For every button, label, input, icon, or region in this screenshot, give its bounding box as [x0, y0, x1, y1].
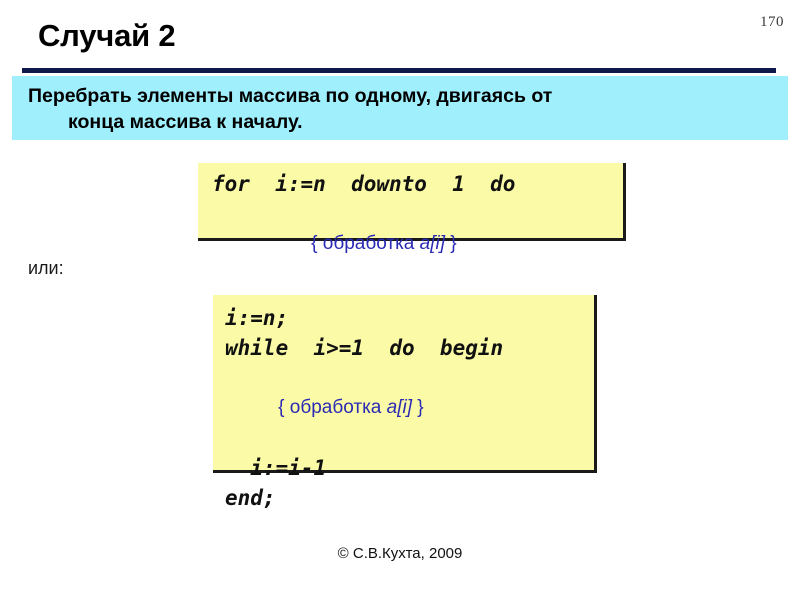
description-banner-text: Перебрать элементы массива по одному, дв… — [12, 76, 788, 135]
comment-prefix: { обработка — [278, 397, 387, 418]
description-line-1: Перебрать элементы массива по одному, дв… — [28, 85, 552, 107]
comment-variable: a[i] — [387, 397, 412, 418]
comment-suffix: } — [412, 397, 424, 418]
comment-prefix: { обработка — [311, 233, 420, 254]
title-divider — [22, 68, 776, 73]
code-line: while i>=1 do begin — [213, 333, 594, 363]
code-line: for i:=n downto 1 do — [198, 169, 623, 199]
code-comment-line: { обработка a[i] } — [198, 199, 623, 289]
code-line: i:=i-1 — [213, 453, 594, 483]
code-block-while: i:=n; while i>=1 do begin { обработка a[… — [213, 295, 597, 473]
code-block-for-downto: for i:=n downto 1 do { обработка a[i] } — [198, 163, 626, 241]
comment-variable: a[i] — [420, 233, 445, 254]
description-banner: Перебрать элементы массива по одному, дв… — [12, 76, 788, 140]
alternative-label: или: — [28, 258, 64, 279]
page-title: Случай 2 — [38, 18, 175, 54]
code-line: i:=n; — [213, 303, 594, 333]
slide-number: 170 — [760, 14, 784, 31]
code-comment-line: { обработка a[i] } — [213, 363, 594, 453]
footer-copyright: © С.В.Кухта, 2009 — [0, 545, 800, 562]
description-line-2: конца массива к началу. — [28, 109, 770, 135]
comment-suffix: } — [445, 233, 457, 254]
code-line: end; — [213, 483, 594, 513]
